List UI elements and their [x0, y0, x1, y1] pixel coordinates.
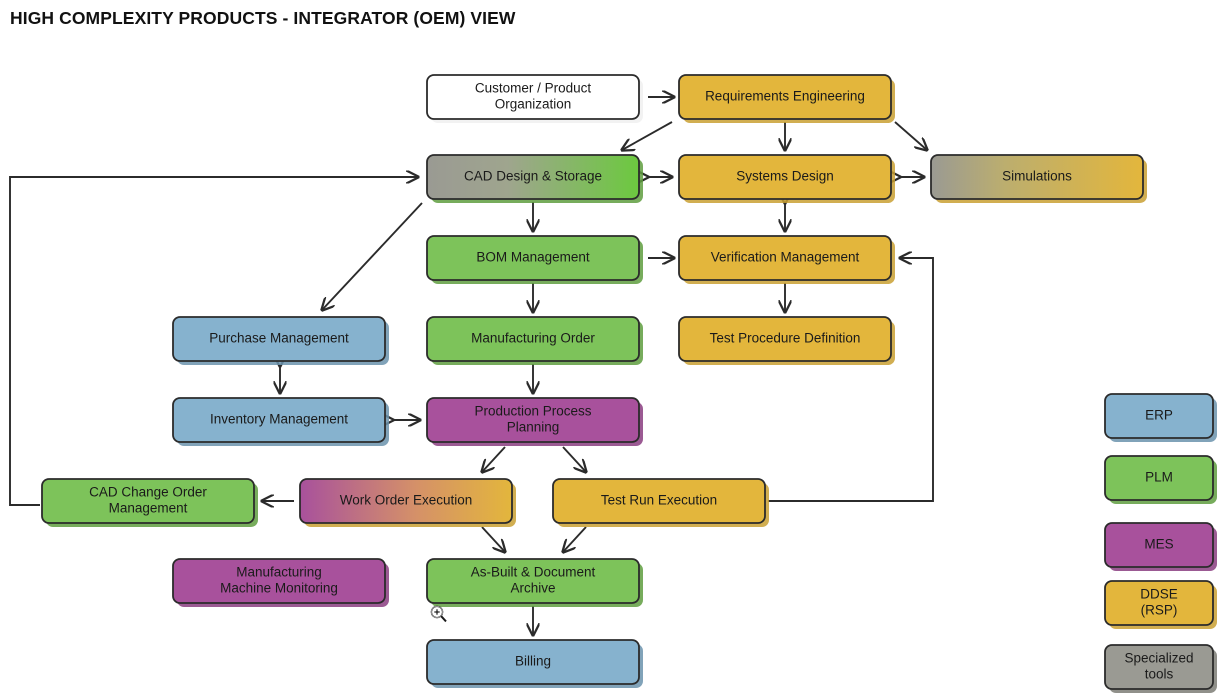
- box-body[interactable]: [427, 559, 639, 603]
- node-manufacturing-machine-monitoring[interactable]: ManufacturingMachine Monitoring: [173, 559, 389, 607]
- node-purchase-management[interactable]: Purchase Management: [173, 317, 389, 365]
- node-test-procedure-definition[interactable]: Test Procedure Definition: [679, 317, 895, 365]
- node-verification-management[interactable]: Verification Management: [679, 236, 895, 284]
- box-body[interactable]: [427, 236, 639, 280]
- node-cad-design-storage[interactable]: CAD Design & Storage: [427, 155, 643, 203]
- legend-mes[interactable]: MES: [1105, 523, 1217, 571]
- box-body[interactable]: [427, 155, 639, 199]
- box-body[interactable]: [42, 479, 254, 523]
- legend-plm[interactable]: PLM: [1105, 456, 1217, 504]
- box-body[interactable]: [173, 398, 385, 442]
- box-body[interactable]: [427, 640, 639, 684]
- node-manufacturing-order[interactable]: Manufacturing Order: [427, 317, 643, 365]
- box-body[interactable]: [300, 479, 512, 523]
- box-body[interactable]: [679, 317, 891, 361]
- connector-customer-to-cad-design: [622, 122, 672, 150]
- box-body[interactable]: [931, 155, 1143, 199]
- legend-erp[interactable]: ERP: [1105, 394, 1217, 442]
- box-body[interactable]: [1105, 456, 1213, 500]
- connector-test-run-to-as-built: [563, 527, 586, 552]
- box-body[interactable]: [1105, 523, 1213, 567]
- box-body[interactable]: [1105, 645, 1213, 689]
- flowchart-diagram: Customer / ProductOrganizationRequiremen…: [0, 0, 1227, 700]
- node-production-process-planning[interactable]: Production ProcessPlanning: [427, 398, 643, 446]
- box-body[interactable]: [427, 75, 639, 119]
- node-as-built-document-archive[interactable]: As-Built & DocumentArchive: [427, 559, 643, 607]
- box-body[interactable]: [679, 236, 891, 280]
- box-body[interactable]: [427, 317, 639, 361]
- connector-test-run-to-verification-loop: [768, 258, 933, 501]
- node-customer-product-organization[interactable]: Customer / ProductOrganization: [427, 75, 643, 123]
- legend: ERPPLMMESDDSE(RSP)Specializedtools: [1105, 394, 1217, 693]
- box-body[interactable]: [173, 317, 385, 361]
- node-layer: Customer / ProductOrganizationRequiremen…: [42, 75, 1147, 688]
- node-cad-change-order-management[interactable]: CAD Change OrderManagement: [42, 479, 258, 527]
- box-body[interactable]: [679, 75, 891, 119]
- box-body[interactable]: [1105, 581, 1213, 625]
- node-bom-management[interactable]: BOM Management: [427, 236, 643, 284]
- node-test-run-execution[interactable]: Test Run Execution: [553, 479, 769, 527]
- connector-work-order-to-as-built: [482, 527, 505, 552]
- connector-cad-design-to-purchase: [322, 203, 422, 310]
- node-simulations[interactable]: Simulations: [931, 155, 1147, 203]
- connector-requirements-to-simulations: [895, 122, 927, 150]
- box-body[interactable]: [553, 479, 765, 523]
- node-inventory-management[interactable]: Inventory Management: [173, 398, 389, 446]
- legend-specialized-tools[interactable]: Specializedtools: [1105, 645, 1217, 693]
- node-billing[interactable]: Billing: [427, 640, 643, 688]
- box-body[interactable]: [1105, 394, 1213, 438]
- box-body[interactable]: [173, 559, 385, 603]
- connector-production-planning-to-work-order: [482, 447, 505, 472]
- connector-production-planning-to-test-run: [563, 447, 586, 472]
- node-work-order-execution[interactable]: Work Order Execution: [300, 479, 516, 527]
- box-body[interactable]: [427, 398, 639, 442]
- legend-ddse[interactable]: DDSE(RSP): [1105, 581, 1217, 629]
- node-systems-design[interactable]: Systems Design: [679, 155, 895, 203]
- node-requirements-engineering[interactable]: Requirements Engineering: [679, 75, 895, 123]
- box-body[interactable]: [679, 155, 891, 199]
